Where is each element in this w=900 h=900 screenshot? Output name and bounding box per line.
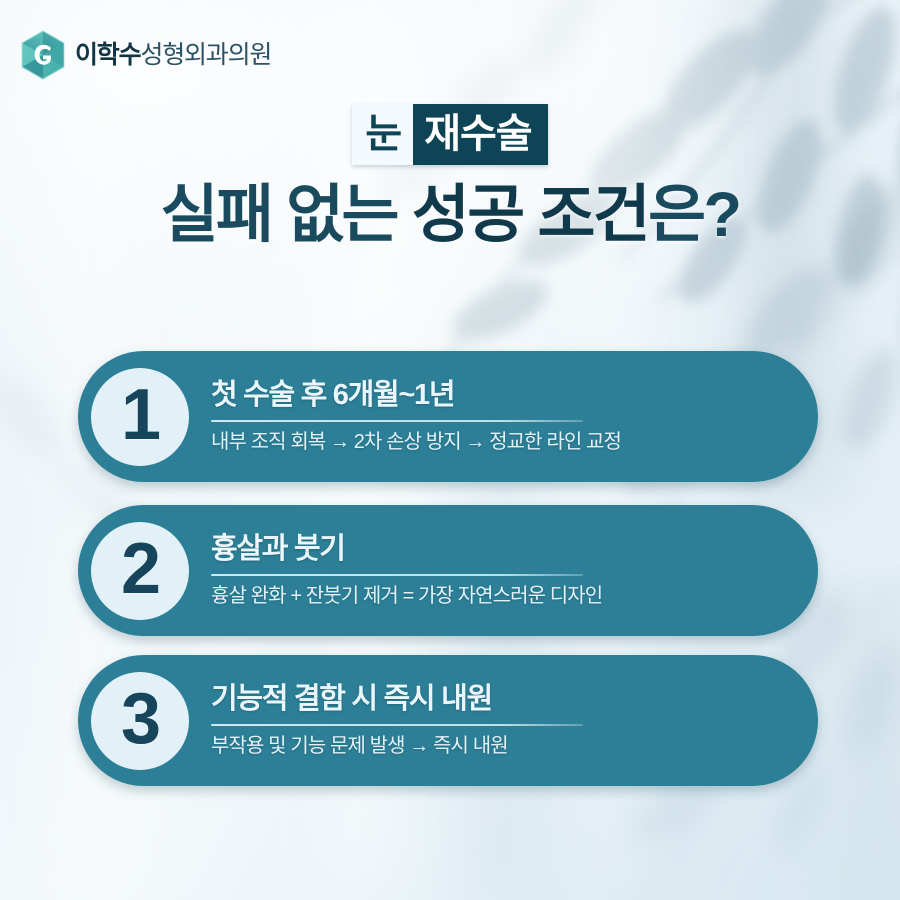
condition-card-1: 1 첫 수술 후 6개월~1년 내부 조직 회복 → 2차 손상 방지 → 정교…	[78, 351, 818, 482]
headline-block: 눈 재수술 실패 없는 성공 조건은?	[0, 104, 900, 252]
headline-part-regular: 실패 없는	[161, 180, 412, 250]
card-body-1: 첫 수술 후 6개월~1년 내부 조직 회복 → 2차 손상 방지 → 정교한 …	[189, 379, 818, 454]
headline-part-bold: 성공 조건	[412, 180, 648, 250]
step-number-2: 2	[121, 533, 159, 605]
step-badge-1: 1	[91, 368, 189, 466]
card-title-1: 첫 수술 후 6개월~1년	[211, 379, 778, 411]
brand-name-strong: 이학수	[75, 41, 140, 69]
card-desc-1: 내부 조직 회복 → 2차 손상 방지 → 정교한 라인 교정	[211, 430, 778, 454]
card-divider-2	[211, 574, 583, 576]
brand-name: 이학수성형외과의원	[75, 43, 271, 68]
card-title-2: 흉살과 붓기	[211, 533, 778, 565]
card-desc-3: 부작용 및 기능 문제 발생 → 즉시 내원	[211, 734, 778, 758]
card-desc-2: 흉살 완화 + 잔붓기 제거 = 가장 자연스러운 디자인	[211, 584, 778, 608]
kicker-rest-text: 재수술	[413, 104, 547, 165]
card-divider-1	[211, 420, 583, 422]
brand-name-light: 성형외과의원	[140, 41, 271, 69]
condition-card-3: 3 기능적 결함 시 즉시 내원 부작용 및 기능 문제 발생 → 즉시 내원	[78, 655, 818, 786]
hexagon-g-logo-icon	[20, 30, 66, 80]
condition-card-2: 2 흉살과 붓기 흉살 완화 + 잔붓기 제거 = 가장 자연스러운 디자인	[78, 505, 818, 636]
card-title-3: 기능적 결함 시 즉시 내원	[211, 683, 778, 715]
headline-part-tail: 은?	[648, 180, 739, 250]
card-body-2: 흉살과 붓기 흉살 완화 + 잔붓기 제거 = 가장 자연스러운 디자인	[189, 533, 818, 608]
step-number-1: 1	[121, 379, 159, 451]
poster-canvas: 이학수성형외과의원 눈 재수술 실패 없는 성공 조건은? 1 첫 수술 후 6…	[0, 0, 900, 900]
step-number-3: 3	[121, 683, 159, 755]
kicker-chip-text: 눈	[352, 104, 413, 165]
card-body-3: 기능적 결함 시 즉시 내원 부작용 및 기능 문제 발생 → 즉시 내원	[189, 683, 818, 758]
card-divider-3	[211, 724, 583, 726]
brand-lockup: 이학수성형외과의원	[20, 30, 271, 80]
step-badge-3: 3	[91, 672, 189, 770]
headline-main: 실패 없는 성공 조건은?	[0, 178, 900, 252]
step-badge-2: 2	[91, 522, 189, 620]
kicker-badge: 눈 재수술	[352, 104, 547, 165]
